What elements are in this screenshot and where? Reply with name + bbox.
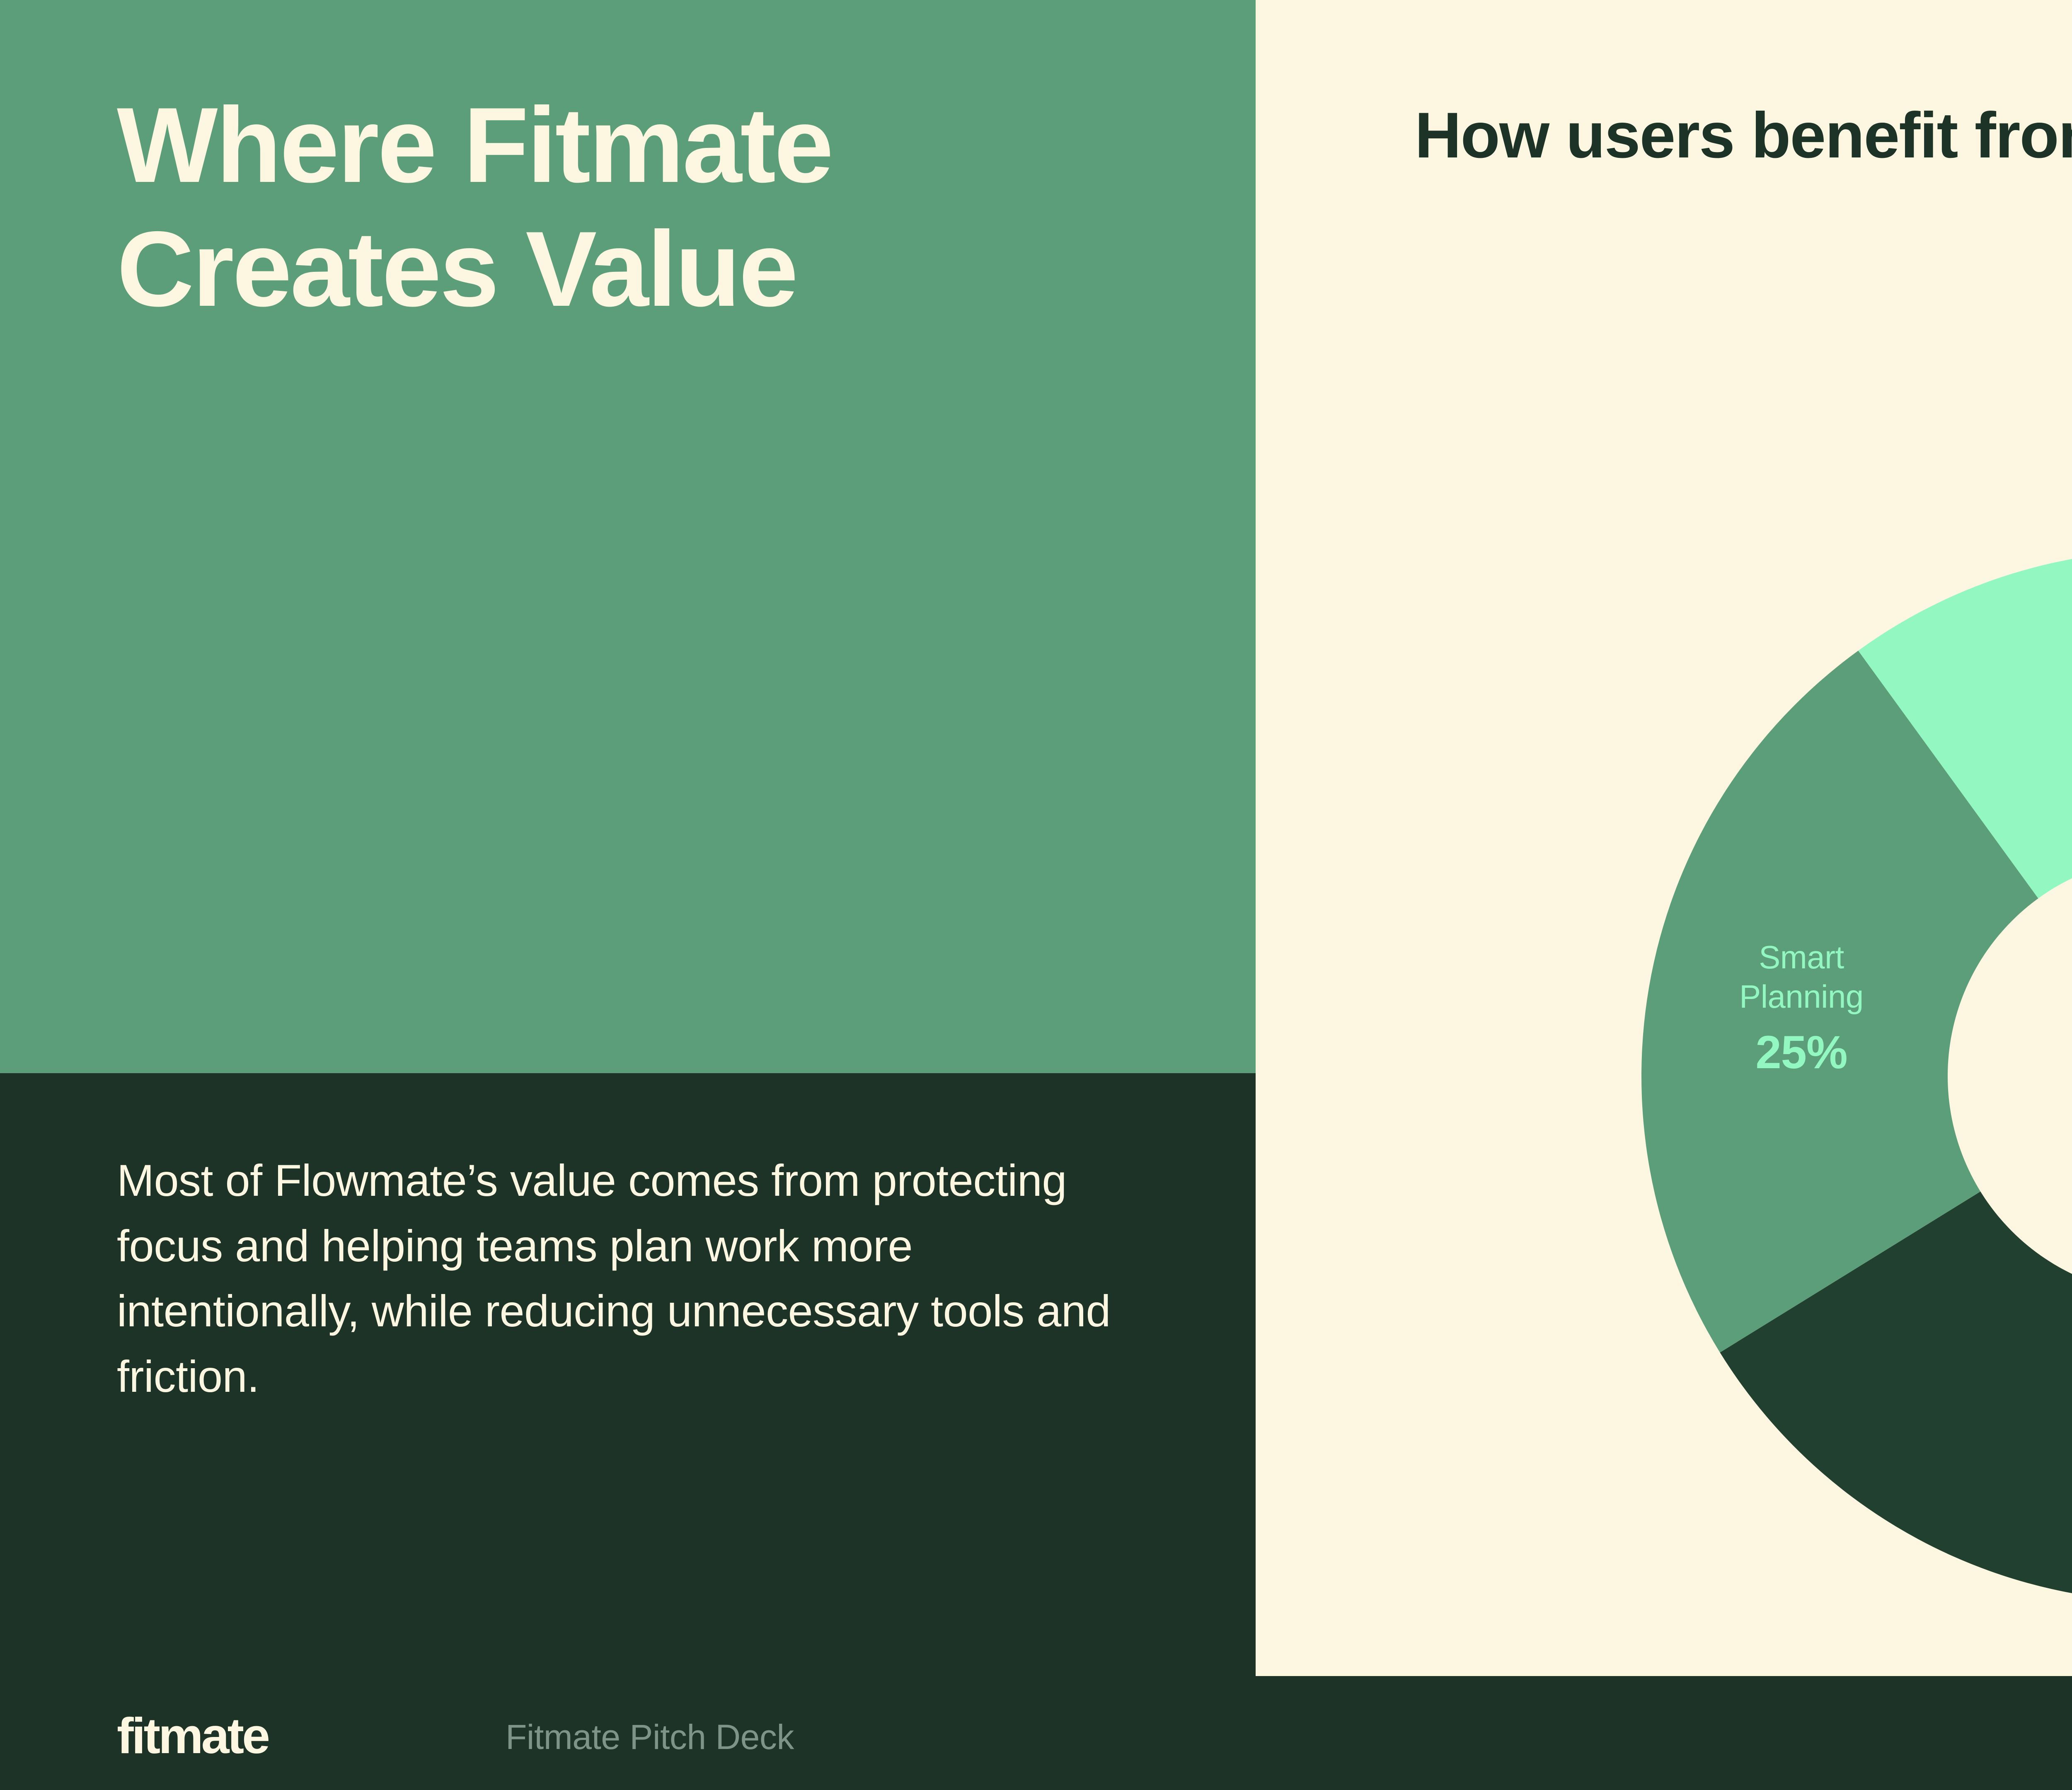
footer-bar	[0, 1676, 2072, 1790]
donut-chart: Fitmate Value ReducedTool Overload25%Per…	[1641, 550, 2072, 1602]
brand-logo: fitmate	[117, 1710, 268, 1761]
slide-body-text: Most of Flowmate’s value comes from prot…	[117, 1148, 1153, 1409]
donut-chart-svg	[1641, 550, 2072, 1602]
footer-deck-name: Fitmate Pitch Deck	[506, 1720, 794, 1754]
chart-question-heading: How users benefit from Fitmate AI in the…	[1256, 95, 2072, 176]
slide-root: Where Fitmate Creates Value Most of Flow…	[0, 0, 2072, 1790]
page-title: Where Fitmate Creates Value	[117, 83, 1153, 331]
